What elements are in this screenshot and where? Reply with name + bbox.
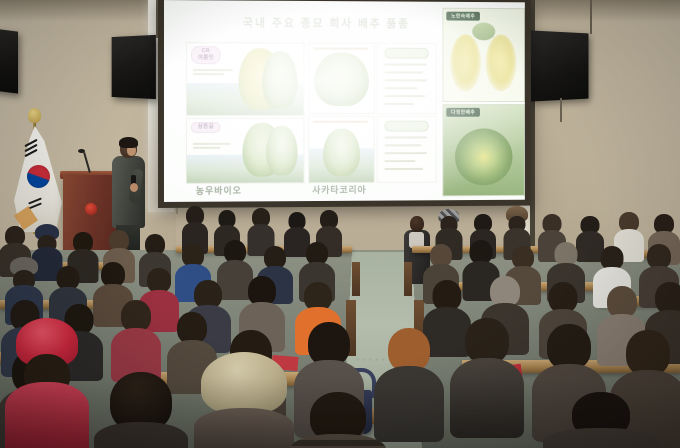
- seed-packet-1: 노란속배추: [442, 8, 524, 102]
- speaker-wire-right-drop: [560, 98, 562, 122]
- seed-packet-label: 노란속배추: [446, 12, 480, 21]
- slide-text-panel-1: [377, 43, 437, 114]
- cabbage-rosette-image: [455, 128, 513, 185]
- audience-member-red-hat: [8, 318, 86, 448]
- panel-line: [384, 168, 423, 170]
- panel-pill: [384, 121, 429, 132]
- torso: [5, 382, 89, 448]
- podium-emblem-icon: [85, 203, 97, 215]
- speaker-wire-right: [590, 0, 592, 34]
- lecture-hall-photo: 국내 주요 종묘 회사 배추 품종 CR 여름맛 삼동길: [0, 0, 680, 448]
- microphone-head-icon: [78, 149, 85, 153]
- cabbage-half-right-image: [486, 34, 517, 91]
- audience-member: [546, 392, 656, 448]
- presenter-hair: [119, 137, 138, 148]
- seed-packet-2: 다정한배추: [442, 104, 524, 196]
- panel-line: [384, 79, 427, 81]
- torso: [194, 408, 294, 448]
- taeguk-circle-icon: [27, 165, 50, 188]
- card-text-line: [193, 147, 221, 149]
- flag-finial-icon: [28, 108, 41, 123]
- standing-attendee-head: [410, 216, 424, 232]
- torso: [290, 434, 386, 448]
- audience-member: [376, 328, 442, 438]
- torso: [94, 422, 188, 448]
- slide-card-left-2: 삼동길: [186, 118, 305, 184]
- panel-line: [384, 71, 423, 73]
- cultivar-badge: CR 여름맛: [191, 46, 221, 64]
- card-text-line: [193, 73, 225, 75]
- audience-member: [112, 300, 160, 378]
- brand-label-left: 농우바이오: [196, 184, 242, 197]
- cabbage-leaf-image: [266, 126, 297, 176]
- seed-packet-label: 다정한배추: [446, 108, 480, 117]
- card-text-line: [193, 143, 231, 145]
- wall-speaker-left-icon: [112, 35, 156, 99]
- card-text-line: [313, 121, 368, 123]
- panel-line: [384, 136, 427, 138]
- desk-side-panel: [404, 262, 412, 296]
- slide-card-left-1: CR 여름맛: [186, 42, 305, 116]
- panel-line: [384, 87, 417, 89]
- torso: [374, 366, 444, 442]
- panel-line: [384, 103, 413, 104]
- audience-member: [452, 318, 522, 434]
- panel-line: [384, 64, 427, 66]
- desk-side-panel: [352, 262, 360, 296]
- slide-card-center-2: [308, 116, 374, 183]
- panel-line: [384, 95, 425, 96]
- card-text-line: [313, 48, 368, 50]
- panel-line: [384, 160, 415, 162]
- cabbage-field-head-image: [323, 129, 360, 177]
- wall-speaker-left-corner-icon: [0, 28, 18, 93]
- cabbage-half-left-image: [450, 34, 481, 91]
- slide-title: 국내 주요 종묘 회사 배추 품종: [164, 14, 487, 31]
- torso: [450, 358, 524, 438]
- panel-line: [384, 152, 427, 154]
- projected-slide: 국내 주요 종묘 회사 배추 품종 CR 여름맛 삼동길: [164, 0, 525, 202]
- card-text-line: [193, 69, 233, 71]
- cabbage-leaf-image: [262, 51, 297, 109]
- cabbage-top-image: [472, 23, 495, 41]
- torso: [543, 428, 659, 448]
- panel-pill: [384, 48, 429, 59]
- cabbage-cross-section-image: [314, 52, 369, 105]
- panel-line: [384, 144, 421, 146]
- audience-member: [96, 372, 186, 448]
- wall-speaker-right-icon: [531, 30, 588, 101]
- audience-member-beige-hat: [196, 352, 292, 448]
- audience-member-striped: [292, 392, 384, 448]
- slide-text-panel-2: [377, 116, 437, 183]
- slide-card-center-1: [308, 43, 374, 114]
- beige-bucket-hat-icon: [201, 352, 287, 414]
- presenter-hand: [130, 183, 138, 192]
- projection-screen: 국내 주요 종묘 회사 배추 품종 CR 여름맛 삼동길: [158, 0, 531, 208]
- cultivar-badge: 삼동길: [191, 122, 221, 133]
- brand-label-center: 사카타코리아: [312, 183, 366, 196]
